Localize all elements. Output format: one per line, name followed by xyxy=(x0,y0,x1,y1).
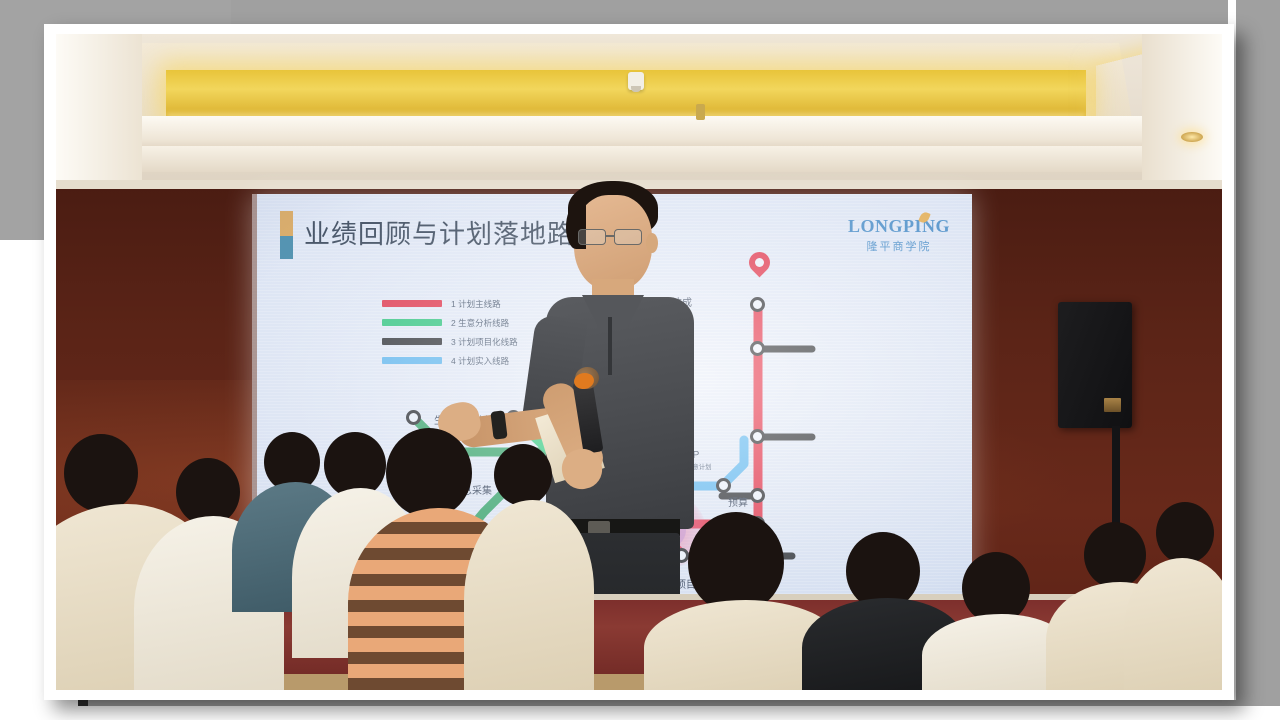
glasses-lens-left xyxy=(578,229,606,245)
audience-head xyxy=(386,428,472,518)
ceiling-column-right xyxy=(1142,34,1222,184)
ceiling xyxy=(56,34,1222,186)
audience-person xyxy=(464,500,594,690)
photograph: 业绩回顾与计划落地路线图 LONGPING 隆平商学院 1 计划主线路 xyxy=(56,34,1222,690)
audience-head xyxy=(1084,522,1146,588)
smoke-detector-icon xyxy=(628,72,644,90)
pa-speaker-badge-icon xyxy=(1104,398,1121,412)
audience-head xyxy=(494,444,552,506)
glasses-bridge xyxy=(606,235,614,237)
backdrop-band-bottom xyxy=(0,706,1280,720)
downlight-icon xyxy=(1181,132,1203,142)
sprinkler-icon xyxy=(696,104,705,120)
presenter-placket xyxy=(608,317,612,375)
backdrop-band-far-right xyxy=(1236,0,1280,720)
crown-molding-upper xyxy=(56,116,1222,150)
audience-head xyxy=(1156,502,1214,564)
photo-frame: 业绩回顾与计划落地路线图 LONGPING 隆平商学院 1 计划主线路 xyxy=(44,24,1234,700)
ceiling-column-left xyxy=(56,34,142,184)
glasses-lens-right xyxy=(614,229,642,245)
audience-head xyxy=(688,512,784,614)
screenshot-root: 业绩回顾与计划落地路线图 LONGPING 隆平商学院 1 计划主线路 xyxy=(0,0,1280,720)
glasses-icon xyxy=(578,229,650,247)
audience-head xyxy=(64,434,138,512)
gold-cove-lighting xyxy=(166,70,1086,118)
